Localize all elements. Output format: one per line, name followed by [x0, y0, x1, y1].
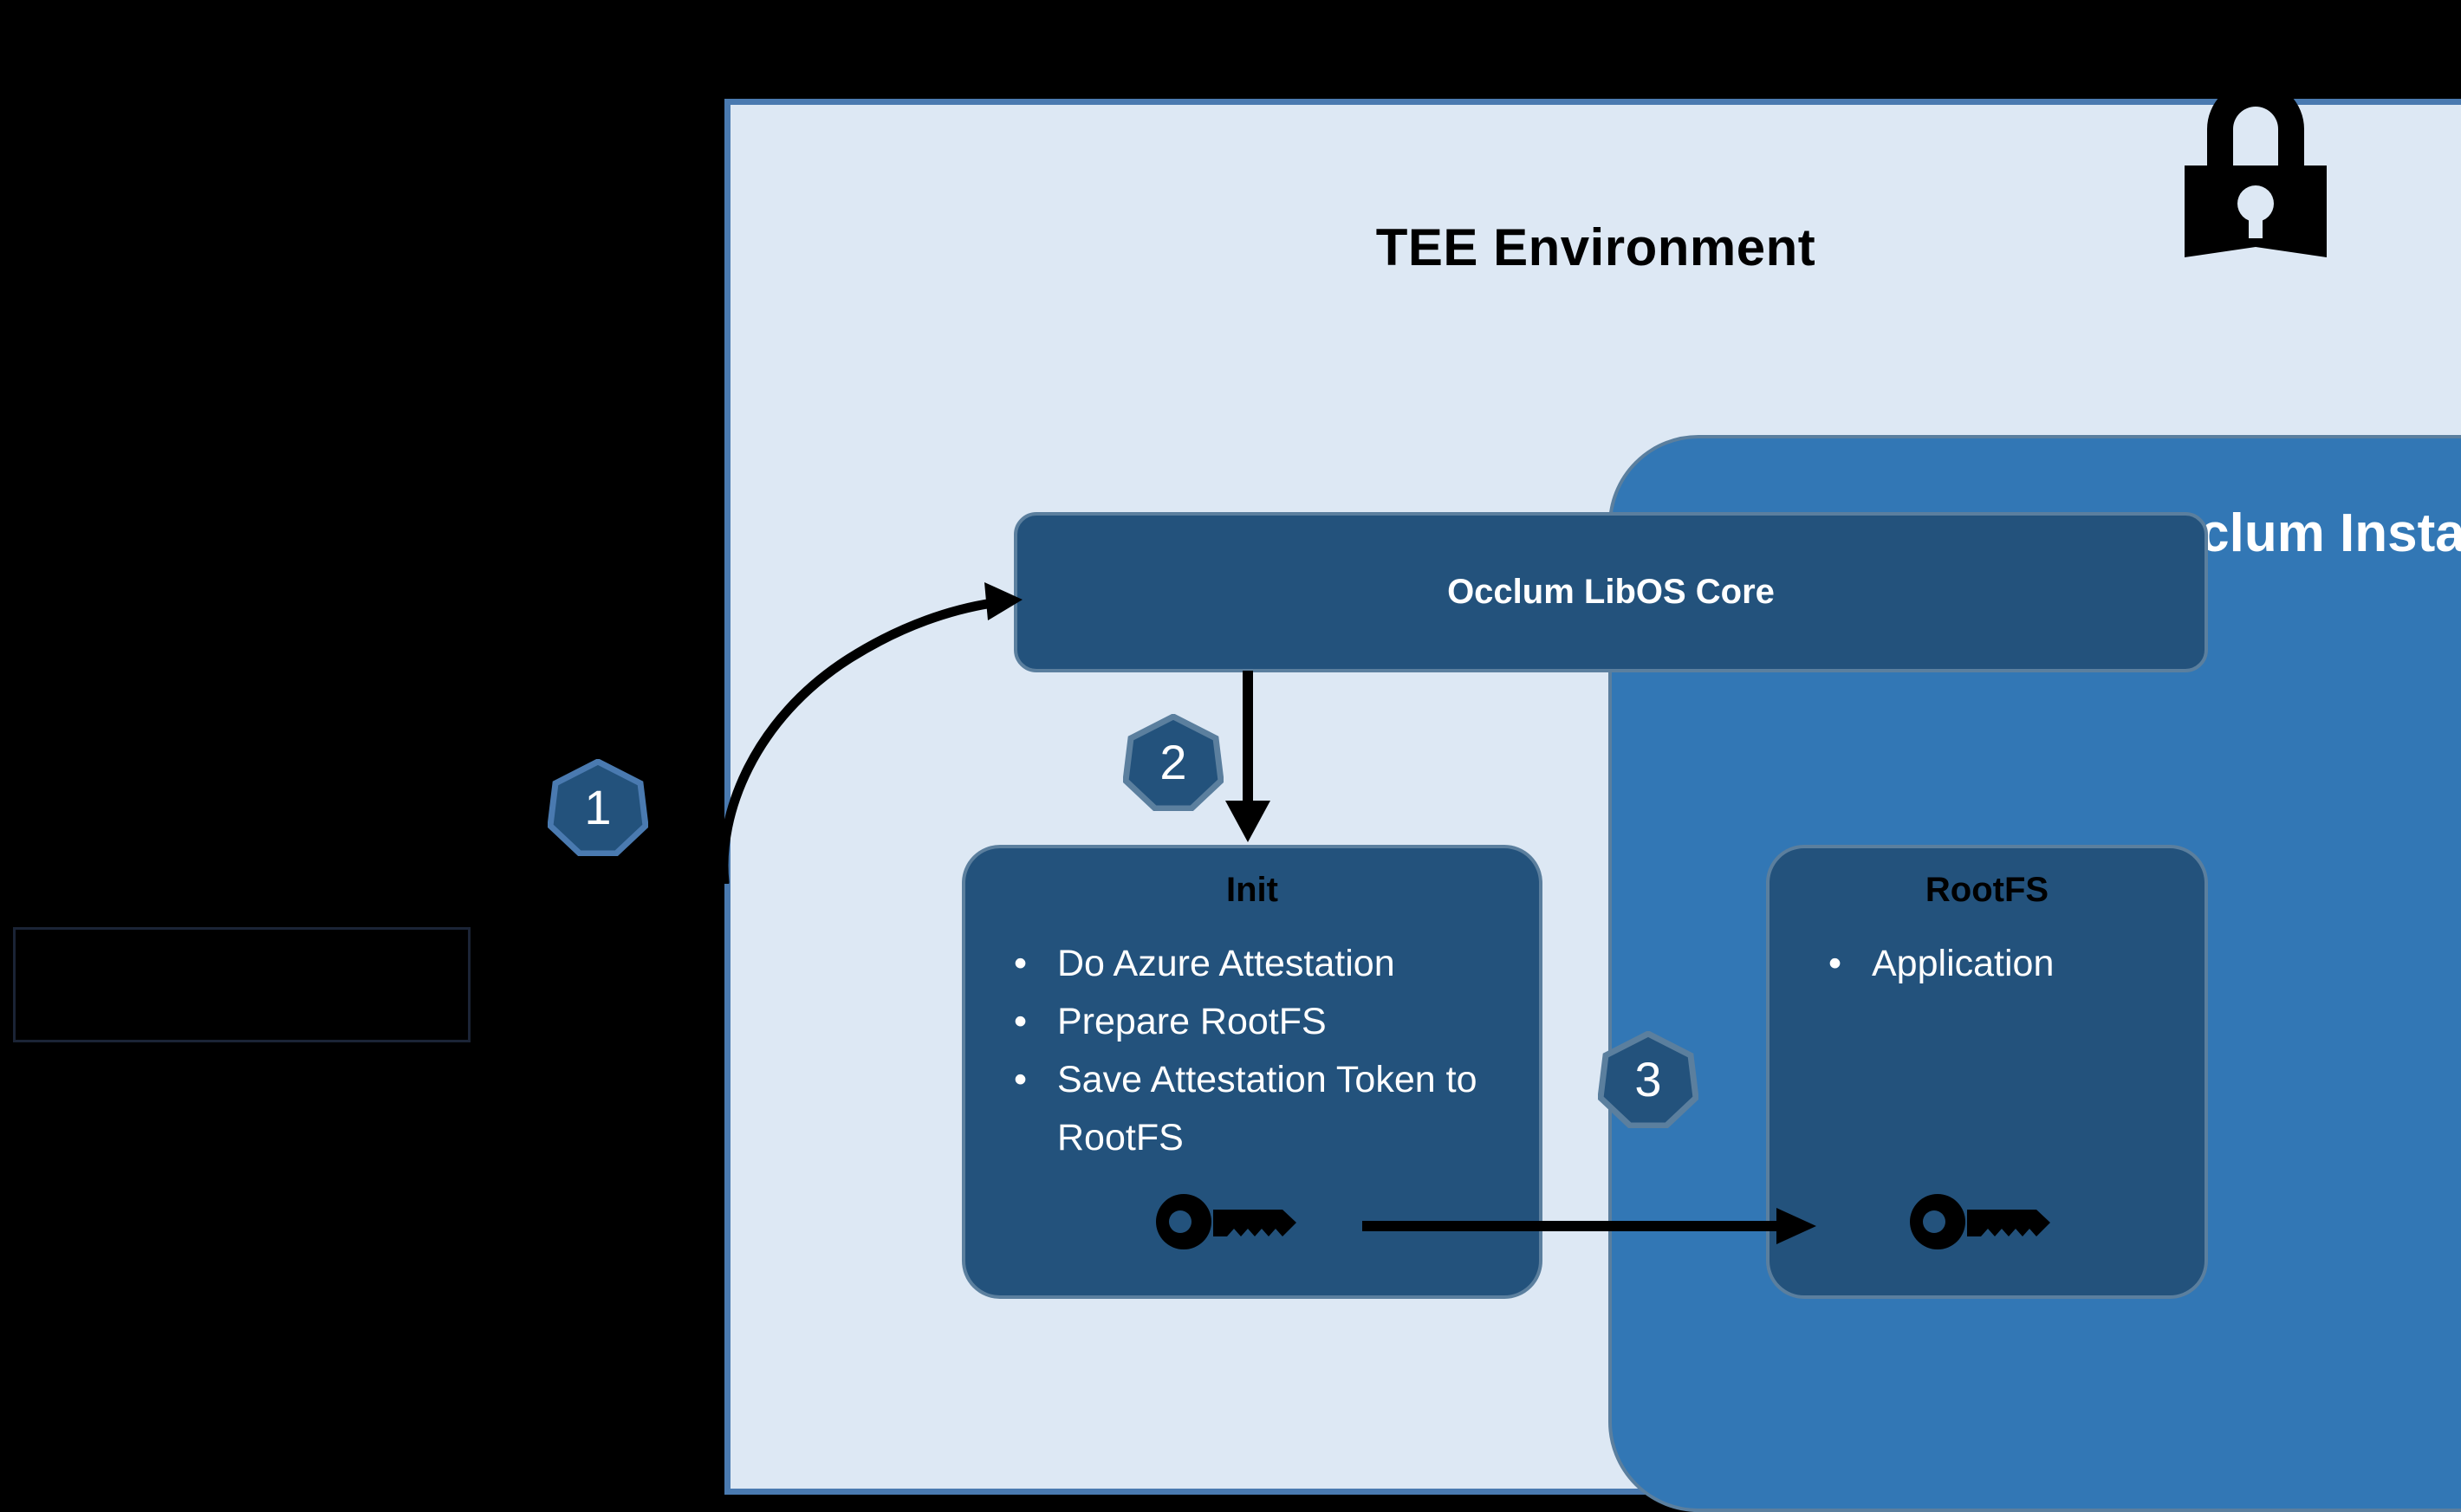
occlum-libos-core-label: Occlum LibOS Core [1017, 516, 2205, 669]
init-bullet-list: Do Azure Attestation Prepare RootFS Save… [1003, 935, 1523, 1167]
list-item: Save Attestation Token to RootFS [1003, 1051, 1523, 1167]
padlock-icon [2169, 91, 2342, 260]
list-item: Application [1818, 935, 2189, 993]
empty-placeholder-rect [13, 927, 471, 1042]
step-badge-2: 2 [1123, 714, 1224, 811]
key-icon [1153, 1187, 1308, 1256]
rootfs-bullet-list: Application [1818, 935, 2189, 993]
step-badge-3-number: 3 [1598, 1031, 1698, 1128]
init-heading: Init [965, 871, 1539, 910]
step-badge-1: 1 [548, 759, 648, 856]
step-badge-3: 3 [1598, 1031, 1698, 1128]
step-badge-2-number: 2 [1123, 714, 1224, 811]
list-item: Prepare RootFS [1003, 993, 1523, 1051]
occlum-libos-core-box: Occlum LibOS Core [1014, 512, 2208, 672]
key-icon [1906, 1187, 2062, 1256]
step-badge-1-number: 1 [548, 759, 648, 856]
rootfs-heading: RootFS [1769, 871, 2205, 910]
list-item: Do Azure Attestation [1003, 935, 1523, 993]
